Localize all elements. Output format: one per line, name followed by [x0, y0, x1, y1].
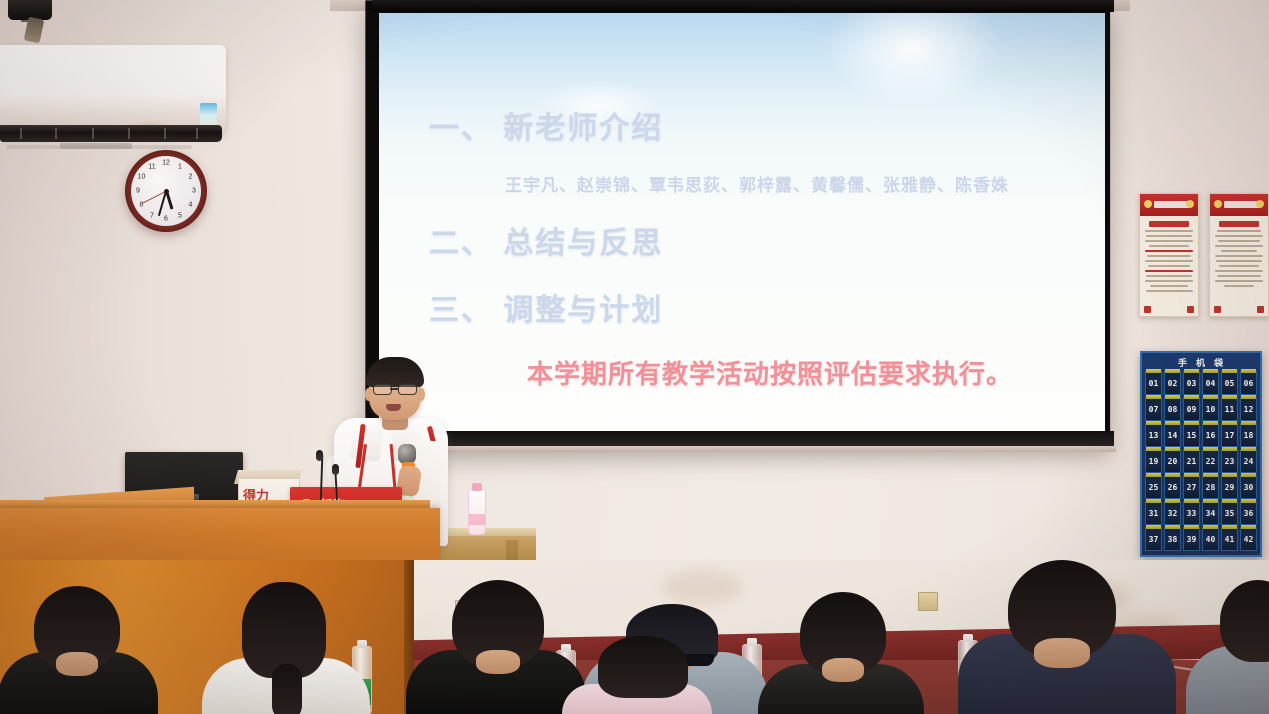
pocket-number: 27	[1187, 483, 1197, 492]
poster-title-bar	[1149, 221, 1189, 227]
slide-highlight	[823, 13, 1003, 108]
pocket-number: 09	[1187, 405, 1197, 414]
pocket-number: 42	[1244, 535, 1254, 544]
pocket-number: 01	[1149, 379, 1159, 388]
phone-pocket[interactable]: 39	[1183, 527, 1201, 551]
pocket-number: 02	[1168, 379, 1178, 388]
poster-footer	[1214, 306, 1264, 313]
speaker-eyebrow-right	[400, 379, 414, 382]
clock-numeral: 9	[136, 188, 140, 195]
attendee-neck	[476, 650, 520, 674]
phone-pocket[interactable]: 33	[1183, 501, 1201, 525]
bottle-cap	[357, 640, 367, 648]
slide-name-list: 王宇凡、赵崇锦、覃韦思荻、郭梓露、黄馨儒、张雅静、陈香姝	[505, 171, 1009, 196]
bottle-label	[469, 514, 485, 525]
pocket-number: 12	[1244, 405, 1254, 414]
phone-pocket[interactable]: 20	[1164, 449, 1182, 473]
pocket-number: 11	[1225, 405, 1235, 414]
phone-pocket[interactable]: 32	[1164, 501, 1182, 525]
pocket-number: 05	[1225, 379, 1235, 388]
phone-pocket[interactable]: 06	[1240, 371, 1258, 395]
pocket-number: 22	[1206, 457, 1216, 466]
phone-pocket-header-char: 机	[1196, 356, 1206, 369]
pocket-number: 03	[1187, 379, 1197, 388]
slide-heading-3: 三、 调整与计划	[429, 285, 663, 329]
pocket-row: 01 02 03 04 05 06	[1144, 370, 1258, 396]
phone-pocket[interactable]: 40	[1202, 527, 1220, 551]
phone-pocket[interactable]: 37	[1145, 527, 1163, 551]
phone-pocket[interactable]: 11	[1221, 397, 1239, 421]
phone-pocket[interactable]: 21	[1183, 449, 1201, 473]
bottle-cap	[561, 644, 571, 652]
clock-face: 12 1 2 3 4 5 6 7 8 9 10 11	[131, 156, 201, 226]
wall-clock: 12 1 2 3 4 5 6 7 8 9 10 11	[125, 150, 207, 232]
shirt-collar-left	[349, 418, 384, 462]
clock-numeral: 5	[178, 212, 182, 219]
pocket-number: 23	[1225, 457, 1235, 466]
pocket-number: 16	[1206, 431, 1216, 440]
pocket-number: 10	[1206, 405, 1216, 414]
phone-pocket[interactable]: 23	[1221, 449, 1239, 473]
phone-pocket[interactable]: 38	[1164, 527, 1182, 551]
phone-pocket[interactable]: 29	[1221, 475, 1239, 499]
phone-pocket[interactable]: 02	[1164, 371, 1182, 395]
pocket-number: 19	[1149, 457, 1159, 466]
pocket-number: 33	[1187, 509, 1197, 518]
glasses-lens-left	[373, 384, 392, 395]
phone-pocket[interactable]: 31	[1145, 501, 1163, 525]
wall-notice-plate	[918, 592, 938, 611]
phone-pocket[interactable]: 30	[1240, 475, 1258, 499]
phone-pocket[interactable]: 08	[1164, 397, 1182, 421]
wall-poster-right	[1209, 193, 1269, 317]
phone-pocket[interactable]: 26	[1164, 475, 1182, 499]
wall-poster-left	[1139, 193, 1199, 317]
pocket-number: 30	[1244, 483, 1254, 492]
poster-header	[1210, 194, 1268, 216]
classroom-photo: 12 1 2 3 4 5 6 7 8 9 10 11 一、 新老师介绍 王宇凡、…	[0, 0, 1269, 714]
pocket-number: 28	[1206, 483, 1216, 492]
speaker-ear-right	[418, 388, 425, 401]
clock-numeral: 11	[148, 163, 155, 170]
slide-heading-2: 二、 总结与反思	[429, 218, 663, 262]
attendee-neck	[56, 652, 98, 676]
glasses-lens-right	[398, 384, 417, 395]
phone-pocket[interactable]: 36	[1240, 501, 1258, 525]
gooseneck-microphone-head	[316, 450, 323, 461]
clock-numeral: 2	[189, 174, 193, 181]
pocket-number: 29	[1225, 483, 1235, 492]
phone-pocket[interactable]: 27	[1183, 475, 1201, 499]
clock-numeral: 6	[164, 216, 168, 223]
bottle-cap	[747, 638, 757, 646]
slide-heading-1: 一、 新老师介绍	[429, 103, 663, 147]
phone-pocket[interactable]: 07	[1145, 397, 1163, 421]
clock-numeral: 10	[138, 174, 146, 181]
bottle-cap	[472, 483, 482, 491]
pocket-number: 34	[1206, 509, 1216, 518]
phone-pocket[interactable]: 09	[1183, 397, 1201, 421]
phone-pocket-header-char: 手	[1178, 356, 1188, 369]
slide-red-notice: 本学期所有教学活动按照评估要求执行。	[527, 354, 1013, 391]
phone-pocket[interactable]: 41	[1221, 527, 1239, 551]
phone-pocket[interactable]: 35	[1221, 501, 1239, 525]
screen-top-bar	[372, 0, 1114, 12]
speaker-ear-left	[365, 388, 372, 401]
phone-pocket-header: 手 机 袋	[1144, 355, 1258, 370]
phone-pocket[interactable]: 15	[1183, 423, 1201, 447]
phone-pocket[interactable]: 03	[1183, 371, 1201, 395]
clock-numeral: 1	[178, 163, 182, 170]
glasses-bridge	[390, 388, 398, 390]
phone-pocket-chart: 手 机 袋 01 02 03 04 05 06 07 08 09 10 11 1…	[1140, 351, 1262, 557]
phone-pocket[interactable]: 13	[1145, 423, 1163, 447]
pocket-number: 15	[1187, 431, 1197, 440]
pocket-number: 18	[1244, 431, 1254, 440]
air-conditioner	[0, 45, 226, 135]
pocket-number: 17	[1225, 431, 1235, 440]
pocket-number: 37	[1149, 535, 1159, 544]
poster-header	[1140, 194, 1198, 216]
phone-pocket[interactable]: 04	[1202, 371, 1220, 395]
phone-pocket[interactable]: 18	[1240, 423, 1258, 447]
clock-numeral: 12	[162, 160, 170, 167]
pocket-row: 07 08 09 10 11 12	[1144, 396, 1258, 422]
attendee-hair	[598, 636, 688, 698]
pocket-number: 41	[1225, 535, 1235, 544]
phone-pocket[interactable]: 28	[1202, 475, 1220, 499]
phone-pocket[interactable]: 12	[1240, 397, 1258, 421]
pocket-number: 24	[1244, 457, 1254, 466]
phone-pocket[interactable]: 24	[1240, 449, 1258, 473]
pink-water-bottle	[468, 489, 486, 535]
phone-pocket[interactable]: 05	[1221, 371, 1239, 395]
pocket-row: 19 20 21 22 23 24	[1144, 448, 1258, 474]
pocket-number: 26	[1168, 483, 1178, 492]
pocket-row: 25 26 27 28 29 30	[1144, 474, 1258, 500]
ac-vent	[0, 125, 222, 142]
phone-pocket[interactable]: 42	[1240, 527, 1258, 551]
pocket-row: 37 38 39 40 41 42	[1144, 526, 1258, 552]
pocket-number: 36	[1244, 509, 1254, 518]
pocket-number: 39	[1187, 535, 1197, 544]
phone-pocket[interactable]: 01	[1145, 371, 1163, 395]
pocket-row: 13 14 15 16 17 18	[1144, 422, 1258, 448]
pocket-number: 07	[1149, 405, 1159, 414]
pocket-number: 13	[1149, 431, 1159, 440]
pocket-number: 14	[1168, 431, 1178, 440]
clock-numeral: 3	[192, 188, 196, 195]
bottle-cap	[963, 634, 973, 642]
handheld-microphone-head	[398, 444, 416, 464]
poster-title-bar	[1219, 221, 1259, 227]
speaker-eyebrow-left	[374, 379, 388, 382]
poster-footer	[1144, 306, 1194, 313]
pocket-number: 25	[1149, 483, 1159, 492]
speaker-mouth	[386, 404, 401, 411]
phone-pocket[interactable]: 10	[1202, 397, 1220, 421]
phone-pocket[interactable]: 17	[1221, 423, 1239, 447]
phone-pocket[interactable]: 34	[1202, 501, 1220, 525]
phone-pocket-header-char: 袋	[1214, 356, 1224, 369]
clock-numeral: 4	[189, 202, 193, 209]
clock-center-pin	[164, 189, 169, 194]
pocket-number: 08	[1168, 405, 1178, 414]
pocket-number: 20	[1168, 457, 1178, 466]
attendee-neck	[822, 658, 864, 682]
phone-pocket[interactable]: 16	[1202, 423, 1220, 447]
pocket-number: 21	[1187, 457, 1197, 466]
attendee-ponytail	[272, 664, 302, 714]
attendee-neck	[1034, 638, 1090, 668]
gooseneck-microphone-head	[332, 464, 339, 475]
pocket-number: 06	[1244, 379, 1254, 388]
phone-pocket[interactable]: 14	[1164, 423, 1182, 447]
ac-brand-strip	[60, 143, 132, 149]
pocket-row: 31 32 33 34 35 36	[1144, 500, 1258, 526]
pocket-number: 38	[1168, 535, 1178, 544]
screen-bottom-rail	[368, 446, 1116, 452]
pocket-number: 31	[1149, 509, 1159, 518]
phone-pocket[interactable]: 25	[1145, 475, 1163, 499]
pocket-number: 32	[1168, 509, 1178, 518]
pocket-number: 04	[1206, 379, 1216, 388]
clock-numeral: 7	[150, 212, 154, 219]
phone-pocket[interactable]: 19	[1145, 449, 1163, 473]
pocket-number: 35	[1225, 509, 1235, 518]
pocket-number: 40	[1206, 535, 1216, 544]
presentation-slide: 一、 新老师介绍 王宇凡、赵崇锦、覃韦思荻、郭梓露、黄馨儒、张雅静、陈香姝 二、…	[379, 13, 1105, 431]
phone-pocket[interactable]: 22	[1202, 449, 1220, 473]
